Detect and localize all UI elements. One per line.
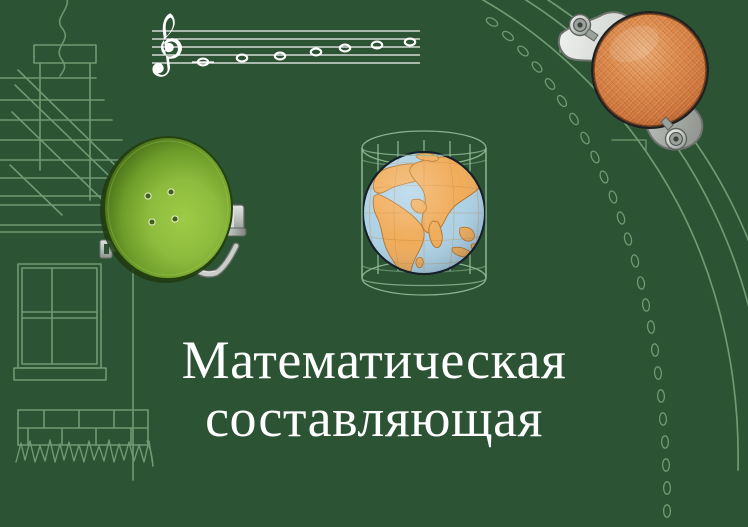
slide-canvas: Математическая составляющая [0,0,748,527]
bicycle-reflector [0,0,748,527]
